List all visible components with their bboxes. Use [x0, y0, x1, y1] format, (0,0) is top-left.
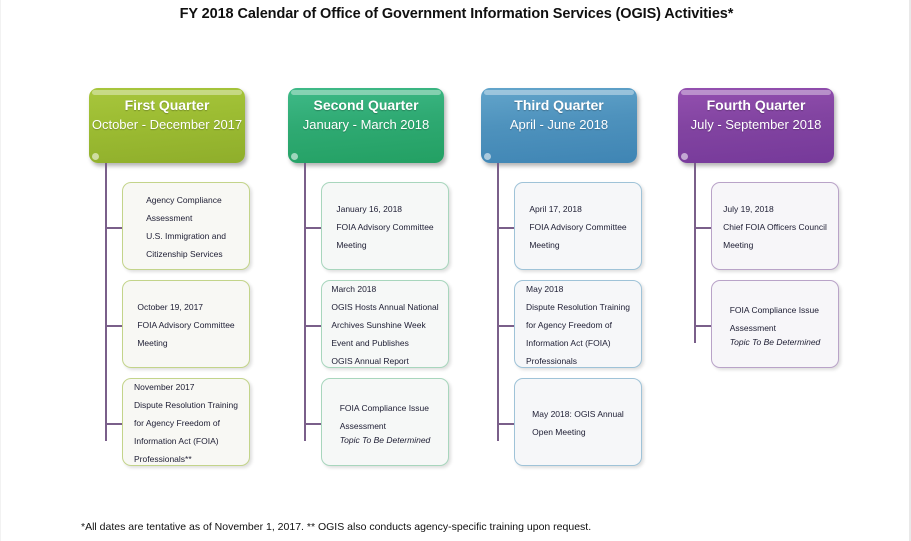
quarter-column-1: First Quarter October - December 2017 Ag…	[89, 88, 245, 163]
quarter-title: Third Quarter	[481, 96, 637, 115]
quarter-title: Second Quarter	[288, 96, 444, 115]
quarter-header-1[interactable]: First Quarter October - December 2017	[89, 88, 245, 163]
event-card[interactable]: November 2017 Dispute Resolution Trainin…	[122, 378, 250, 466]
quarter-range: July - September 2018	[678, 115, 834, 134]
event-card[interactable]: Agency Compliance Assessment U.S. Immigr…	[122, 182, 250, 270]
connector-trunk	[694, 163, 696, 343]
quarter-header-2[interactable]: Second Quarter January - March 2018	[288, 88, 444, 163]
event-text: Agency Compliance Assessment U.S. Immigr…	[146, 195, 226, 259]
event-subtext: Topic To Be Determined	[730, 336, 821, 349]
event-card[interactable]: FOIA Compliance Issue Assessment Topic T…	[321, 378, 449, 466]
event-card[interactable]: March 2018 OGIS Hosts Annual National Ar…	[321, 280, 449, 368]
event-card[interactable]: October 19, 2017 FOIA Advisory Committee…	[122, 280, 250, 368]
event-text: March 2018 OGIS Hosts Annual National Ar…	[331, 284, 438, 366]
event-card[interactable]: FOIA Compliance Issue Assessment Topic T…	[711, 280, 839, 368]
event-subtext: Topic To Be Determined	[340, 434, 431, 447]
event-card[interactable]: May 2018: OGIS Annual Open Meeting	[514, 378, 642, 466]
event-text: April 17, 2018 FOIA Advisory Committee M…	[529, 204, 626, 250]
quarter-header-3[interactable]: Third Quarter April - June 2018	[481, 88, 637, 163]
event-text: November 2017 Dispute Resolution Trainin…	[134, 382, 238, 464]
quarter-range: January - March 2018	[288, 115, 444, 134]
quarter-title: Fourth Quarter	[678, 96, 834, 115]
event-text: FOIA Compliance Issue Assessment	[340, 403, 429, 431]
quarter-column-4: Fourth Quarter July - September 2018 Jul…	[678, 88, 834, 163]
quarter-range: April - June 2018	[481, 115, 637, 134]
quarter-range: October - December 2017	[89, 115, 245, 134]
quarter-title: First Quarter	[89, 96, 245, 115]
quarter-column-3: Third Quarter April - June 2018 April 17…	[481, 88, 637, 163]
page-title: FY 2018 Calendar of Office of Government…	[1, 6, 911, 22]
connector-trunk	[497, 163, 499, 441]
event-text: May 2018 Dispute Resolution Training for…	[526, 284, 630, 366]
event-text: January 16, 2018 FOIA Advisory Committee…	[336, 204, 433, 250]
quarter-header-4[interactable]: Fourth Quarter July - September 2018	[678, 88, 834, 163]
footnote: *All dates are tentative as of November …	[81, 521, 591, 533]
event-card[interactable]: April 17, 2018 FOIA Advisory Committee M…	[514, 182, 642, 270]
event-text: May 2018: OGIS Annual Open Meeting	[532, 409, 624, 437]
connector-trunk	[304, 163, 306, 441]
event-text: July 19, 2018 Chief FOIA Officers Counci…	[723, 204, 827, 250]
connector-trunk	[105, 163, 107, 441]
event-card[interactable]: July 19, 2018 Chief FOIA Officers Counci…	[711, 182, 839, 270]
event-text: October 19, 2017 FOIA Advisory Committee…	[137, 302, 234, 348]
event-card[interactable]: January 16, 2018 FOIA Advisory Committee…	[321, 182, 449, 270]
event-text: FOIA Compliance Issue Assessment	[730, 305, 819, 333]
event-card[interactable]: May 2018 Dispute Resolution Training for…	[514, 280, 642, 368]
quarter-column-2: Second Quarter January - March 2018 Janu…	[288, 88, 444, 163]
calendar-infographic: FY 2018 Calendar of Office of Government…	[0, 0, 911, 541]
